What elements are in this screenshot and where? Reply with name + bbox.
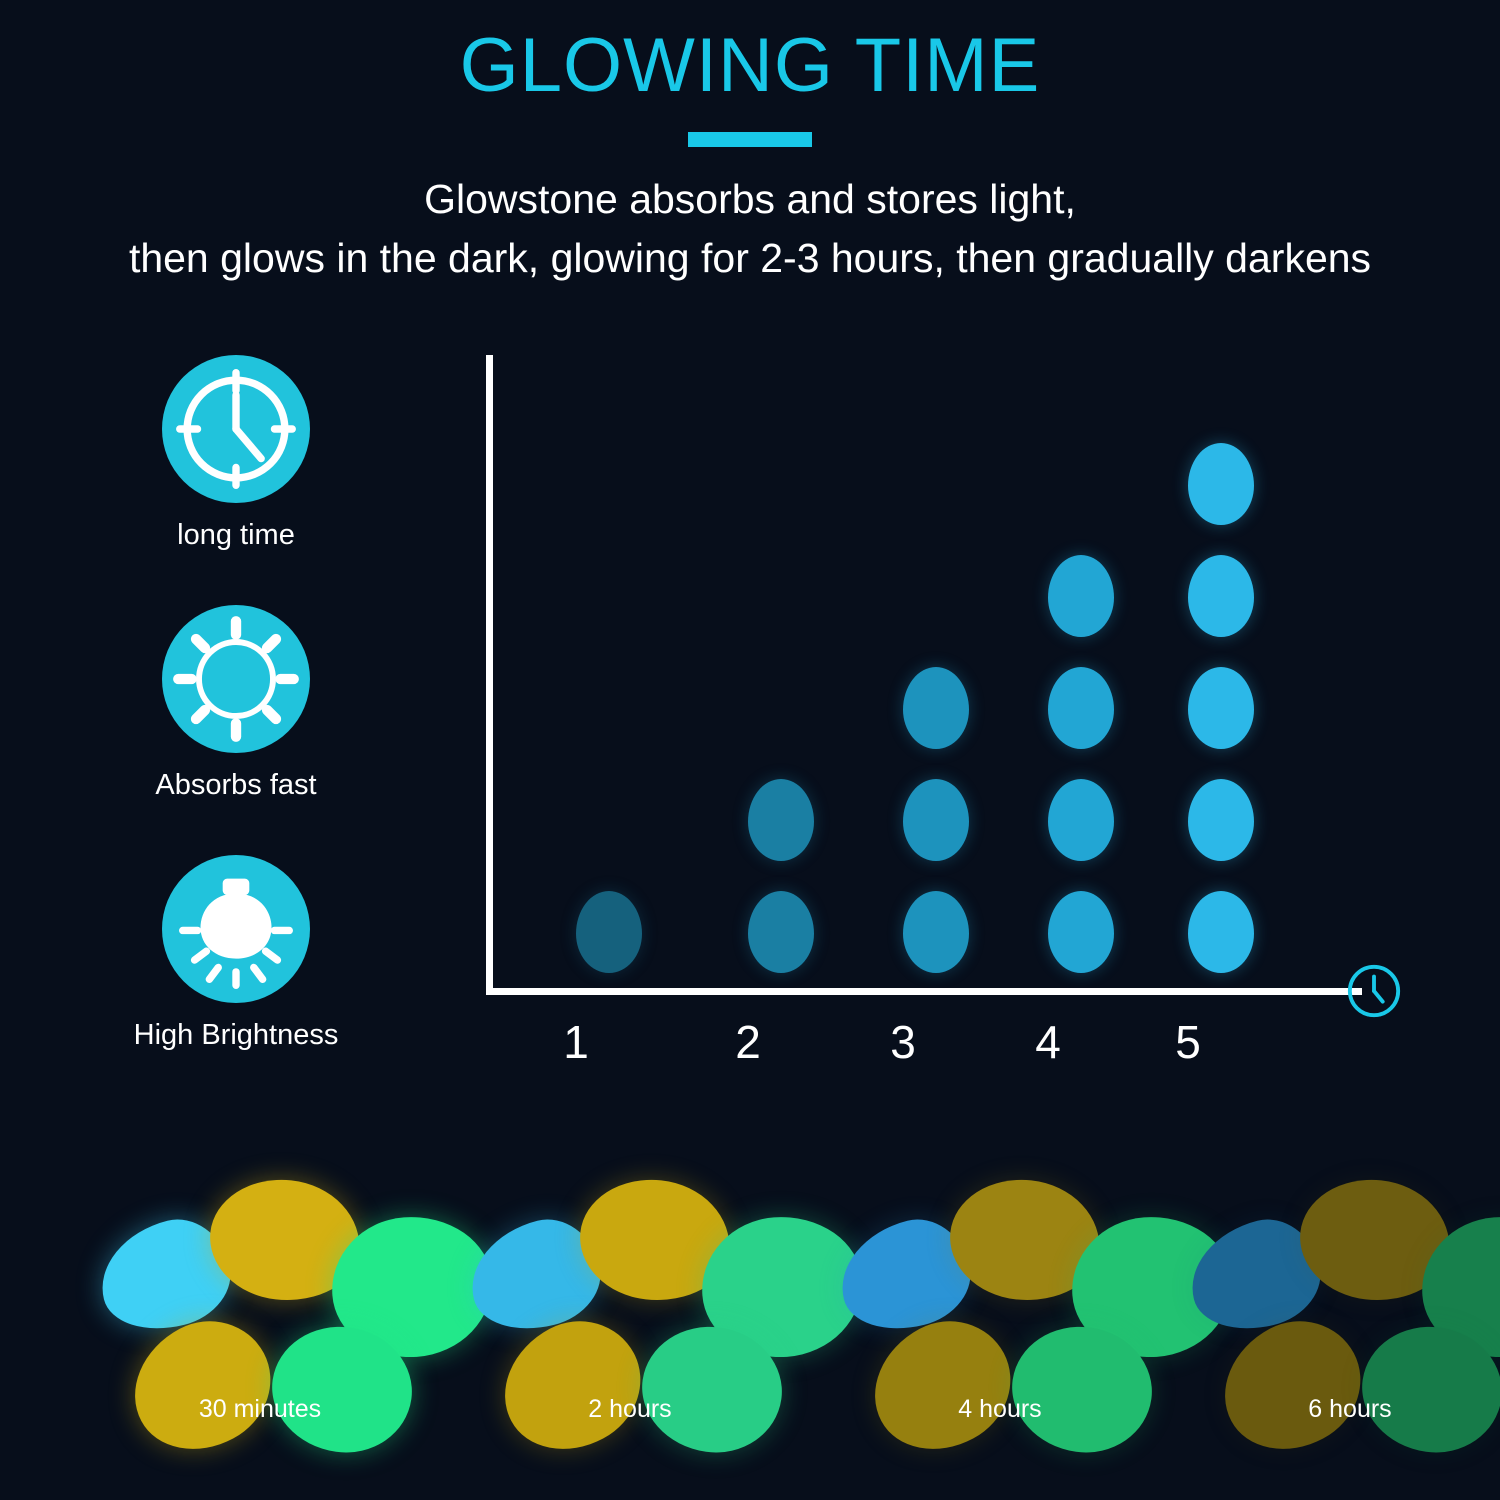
timeline-group-label: 2 hours xyxy=(460,1395,800,1424)
chart-stone-marker xyxy=(1188,891,1254,973)
chart-tick-label-1: 1 xyxy=(541,1015,611,1069)
chart-stone-marker xyxy=(903,667,969,749)
timeline-group: 6 hours xyxy=(1180,1175,1500,1465)
feature-badge-absorbs-fast xyxy=(162,605,310,753)
chart-stone-marker xyxy=(1188,555,1254,637)
chart-stone-marker xyxy=(1048,891,1114,973)
chart-stone-marker xyxy=(903,779,969,861)
feature-long-time: long time xyxy=(98,355,374,552)
clock-icon xyxy=(162,355,310,503)
chart-stone-marker xyxy=(576,891,642,973)
light-bulb-icon xyxy=(162,855,310,1003)
chart-tick-label-4: 4 xyxy=(1013,1015,1083,1069)
glow-intensity-chart xyxy=(486,355,1362,995)
chart-stone-marker xyxy=(1188,443,1254,525)
chart-y-axis xyxy=(486,355,493,993)
feature-absorbs-fast: Absorbs fast xyxy=(98,605,374,802)
chart-stone-marker xyxy=(748,779,814,861)
chart-stone-marker xyxy=(1188,667,1254,749)
page-subtitle: Glowstone absorbs and stores light, then… xyxy=(0,170,1500,289)
chart-x-axis xyxy=(486,988,1362,995)
feature-label-absorbs-fast: Absorbs fast xyxy=(98,769,374,802)
feature-label-long-time: long time xyxy=(98,519,374,552)
chart-stone-marker xyxy=(1188,779,1254,861)
sun-icon xyxy=(162,605,310,753)
timeline-group: 2 hours xyxy=(460,1175,800,1465)
clock-icon xyxy=(1345,962,1403,1020)
chart-stone-marker xyxy=(1048,667,1114,749)
chart-stone-marker xyxy=(1048,555,1114,637)
page-title: GLOWING TIME xyxy=(0,22,1500,109)
subtitle-line-2: then glows in the dark, glowing for 2-3 … xyxy=(0,229,1500,288)
subtitle-line-1: Glowstone absorbs and stores light, xyxy=(0,170,1500,229)
timeline-group-label: 4 hours xyxy=(830,1395,1170,1424)
title-underline-rule xyxy=(688,132,812,147)
feature-label-high-brightness: High Brightness xyxy=(98,1019,374,1052)
chart-stone-marker xyxy=(903,891,969,973)
chart-stone-marker xyxy=(748,891,814,973)
feature-badge-long-time xyxy=(162,355,310,503)
timeline-group: 30 minutes xyxy=(90,1175,430,1465)
chart-tick-label-3: 3 xyxy=(868,1015,938,1069)
chart-tick-label-2: 2 xyxy=(713,1015,783,1069)
chart-stone-marker xyxy=(1048,779,1114,861)
feature-high-brightness: High Brightness xyxy=(98,855,374,1052)
feature-badge-high-brightness xyxy=(162,855,310,1003)
chart-tick-label-5: 5 xyxy=(1153,1015,1223,1069)
glowing-time-infographic: GLOWING TIME Glowstone absorbs and store… xyxy=(0,0,1500,1500)
timeline-group-label: 6 hours xyxy=(1180,1395,1500,1424)
timeline-group: 4 hours xyxy=(830,1175,1170,1465)
timeline-group-label: 30 minutes xyxy=(90,1395,430,1424)
